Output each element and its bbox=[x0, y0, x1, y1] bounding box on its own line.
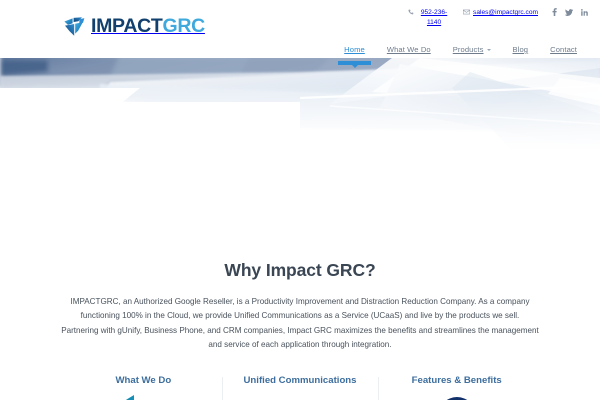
logo-text-secondary: GRC bbox=[163, 15, 205, 37]
nav-item-what-we-do[interactable]: What We Do bbox=[376, 41, 442, 58]
unified-communications-icon-placeholder bbox=[228, 394, 373, 400]
impact-arrow-logo-icon bbox=[62, 14, 88, 40]
social-links bbox=[552, 8, 588, 16]
nav-item-contact[interactable]: Contact bbox=[539, 41, 588, 58]
arrow-left-icon bbox=[71, 394, 216, 400]
site-logo[interactable]: IMPACTGRC bbox=[62, 14, 205, 40]
phone-number: 952-236-1140 bbox=[417, 8, 451, 27]
nav-item-label: Blog bbox=[513, 45, 529, 54]
feature-column-title: Unified Communications bbox=[228, 375, 373, 388]
phone-link[interactable]: 952-236-1140 bbox=[408, 8, 451, 27]
active-tab-indicator bbox=[338, 61, 371, 65]
page-root: IMPACTGRC 952-236-1140 sales@imp bbox=[0, 0, 600, 400]
nav-item-label: What We Do bbox=[387, 45, 431, 54]
intro-paragraph: IMPACTGRC, an Authorized Google Reseller… bbox=[61, 295, 539, 353]
circle-arc-icon bbox=[384, 394, 529, 400]
chevron-down-icon bbox=[487, 49, 491, 51]
twitter-icon[interactable] bbox=[565, 9, 573, 16]
nav-item-products[interactable]: Products bbox=[442, 41, 502, 58]
nav-item-label: Products bbox=[453, 45, 484, 54]
page-title: Why Impact GRC? bbox=[0, 260, 600, 281]
feature-column-unified-communications[interactable]: Unified Communications bbox=[222, 375, 379, 400]
phone-icon bbox=[408, 9, 414, 15]
nav-item-label: Home bbox=[344, 45, 365, 54]
site-header: IMPACTGRC 952-236-1140 sales@imp bbox=[0, 0, 600, 58]
feature-column-title: What We Do bbox=[71, 375, 216, 388]
feature-column-features-benefits[interactable]: Features & Benefits bbox=[378, 375, 535, 400]
contact-bar: 952-236-1140 sales@impactgrc.com bbox=[408, 8, 588, 27]
logo-text-primary: IMPACT bbox=[91, 15, 163, 37]
nav-item-label: Contact bbox=[550, 45, 577, 54]
facebook-icon[interactable] bbox=[552, 8, 557, 16]
nav-item-blog[interactable]: Blog bbox=[502, 41, 540, 58]
main-navigation: Home What We Do Products Blog Contact bbox=[333, 41, 588, 58]
email-link[interactable]: sales@impactgrc.com bbox=[463, 8, 538, 18]
linkedin-icon[interactable] bbox=[581, 9, 588, 16]
envelope-icon bbox=[463, 9, 470, 15]
email-address: sales@impactgrc.com bbox=[473, 8, 538, 18]
main-content: Why Impact GRC? IMPACTGRC, an Authorized… bbox=[0, 150, 600, 400]
logo-wordmark: IMPACTGRC bbox=[91, 17, 205, 37]
feature-column-what-we-do[interactable]: What We Do bbox=[65, 375, 222, 400]
nav-item-home[interactable]: Home bbox=[333, 41, 376, 58]
hero-banner bbox=[0, 58, 600, 150]
feature-column-title: Features & Benefits bbox=[384, 375, 529, 388]
feature-columns: What We Do Unified Communications bbox=[65, 375, 535, 400]
